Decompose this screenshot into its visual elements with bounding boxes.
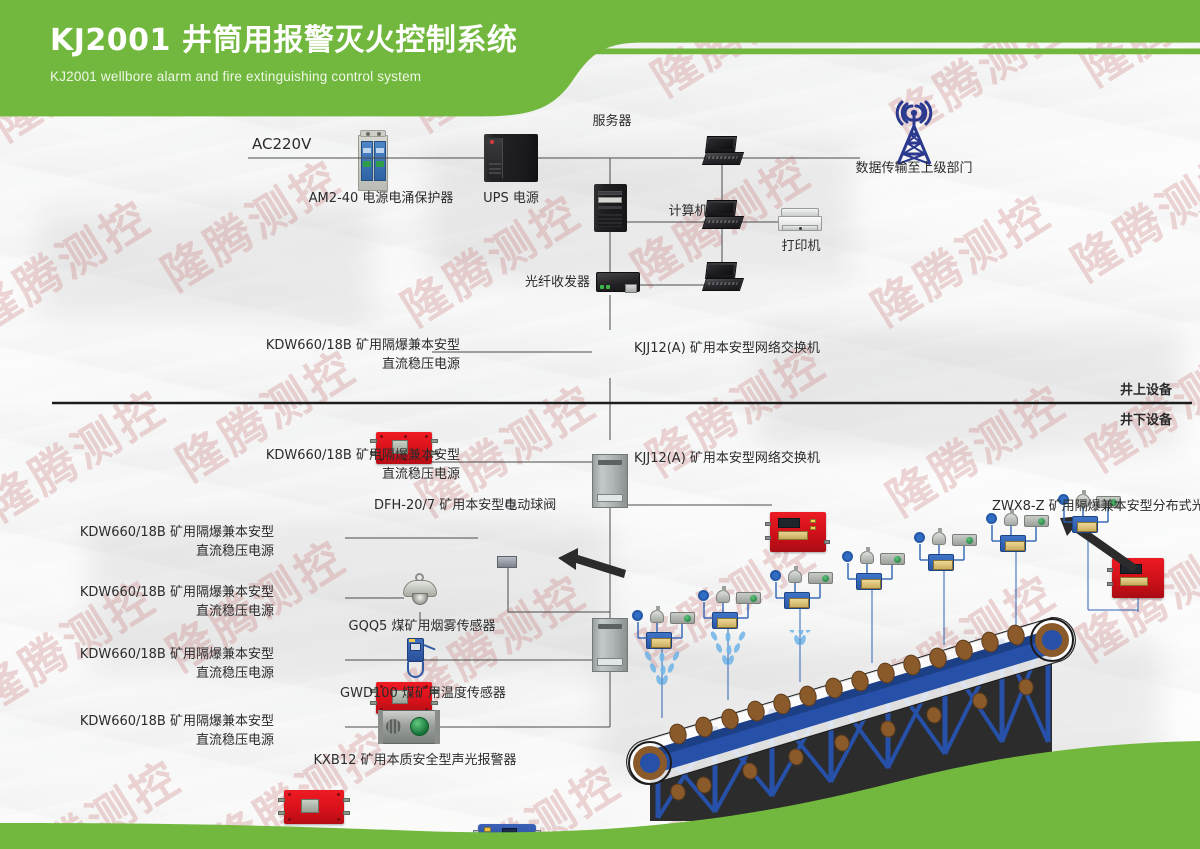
- valve-actuator-base: [497, 556, 517, 568]
- temp-sensor-display: [410, 643, 421, 651]
- network-switch-kjj12-surface[interactable]: [592, 454, 628, 508]
- label-psu-row3-line2: 直流稳压电源: [78, 603, 274, 622]
- label-audible-visual-alarm: KXB12 矿用本质安全型声光报警器: [300, 752, 530, 771]
- arrow-pointer-icon: [558, 548, 628, 584]
- dts-host-zwx8z[interactable]: [770, 512, 828, 554]
- monitor-icon: [705, 262, 737, 279]
- ups-vent: [489, 172, 501, 174]
- alarm-bracket: [435, 710, 440, 744]
- label-psu-row2-line1: KDW660/18B 矿用隔爆兼本安型: [78, 524, 274, 543]
- cluster-wiring: [630, 604, 700, 646]
- switch-front-panel: [597, 494, 623, 502]
- valve-nameplate: [487, 838, 523, 849]
- alarm-indicator-lamp: [410, 717, 429, 736]
- label-dts-host: ZWX8-Z 矿用隔爆兼本安型分布式光纤测温装置主机: [992, 498, 1200, 517]
- keyboard-icon: [702, 278, 744, 291]
- converter-led: [606, 285, 610, 289]
- psu-kdw660-row2[interactable]: [284, 790, 344, 824]
- alarm-bracket: [378, 710, 383, 744]
- ma-certification-mark: [409, 639, 415, 642]
- printer-power-button[interactable]: [799, 227, 802, 230]
- label-psu-row5-line2: 直流稳压电源: [62, 732, 274, 751]
- server-bay: [598, 206, 622, 209]
- workstation-pc[interactable]: [704, 262, 744, 292]
- dts-host-button[interactable]: [810, 519, 816, 523]
- label-ball-valve: DFH-20/7 矿用本安型电动球阀: [374, 497, 556, 516]
- label-psu-surface-line2: 直流稳压电源: [170, 356, 460, 375]
- page-title: KJ2001 井筒用报警灭火控制系统: [50, 22, 517, 60]
- label-switch-underground: KJJ12(A) 矿用本安型网络交换机: [634, 450, 820, 469]
- server-tower[interactable]: [594, 184, 627, 232]
- ups-vent: [489, 163, 501, 165]
- title-block: KJ2001 井筒用报警灭火控制系统 KJ2001 wellbore alarm…: [50, 22, 517, 84]
- audible-visual-alarm-kxb12[interactable]: [378, 710, 440, 744]
- label-server: 服务器: [572, 113, 652, 132]
- dts-cable-gland: [824, 540, 830, 544]
- dts-host-button[interactable]: [810, 526, 816, 530]
- label-ups: UPS 电源: [466, 190, 556, 209]
- label-surface-equipment: 井上设备: [1120, 382, 1172, 401]
- dts-cable-gland: [765, 522, 771, 526]
- label-smoke-sensor: GQQ5 煤矿用烟雾传感器: [340, 618, 504, 637]
- monitor-icon: [705, 136, 737, 153]
- poster-canvas: 隆腾测控 隆腾测控 隆腾测控 隆腾测控 隆腾测控 隆腾测控 隆腾测控 隆腾测控 …: [0, 0, 1200, 849]
- label-surge-protector: AM2-40 电源电涌保护器: [306, 190, 456, 209]
- converter-led: [600, 285, 604, 289]
- electric-ball-valve-dfh207[interactable]: [478, 824, 536, 849]
- page-subtitle: KJ2001 wellbore alarm and fire extinguis…: [50, 69, 517, 84]
- label-psu-row4-line2: 直流稳压电源: [78, 665, 274, 684]
- printer-device[interactable]: [778, 208, 824, 234]
- server-bay: [598, 191, 622, 195]
- antenna-tower-icon: [882, 98, 946, 166]
- label-underground-equipment: 井下设备: [1120, 412, 1172, 431]
- valve-display: [502, 828, 517, 833]
- keyboard-icon: [702, 152, 744, 165]
- psu-cable-gland: [370, 439, 377, 443]
- ups-power-unit[interactable]: [484, 134, 538, 182]
- smoke-sensor-gqq5[interactable]: [403, 573, 439, 609]
- label-media-converter: 光纤收发器: [440, 274, 590, 293]
- alarm-speaker-grille: [386, 719, 401, 734]
- label-ac220v: AC220V: [252, 134, 311, 156]
- label-psu-row3-line1: KDW660/18B 矿用隔爆兼本安型: [78, 584, 274, 603]
- label-psu-row2-line2: 直流稳压电源: [78, 543, 274, 562]
- temp-sensor-cable: [424, 644, 436, 650]
- label-psu-row1-line1: KDW660/18B 矿用隔爆兼本安型: [170, 447, 460, 466]
- dts-cable-gland: [765, 536, 771, 540]
- temp-sensor-probe: [407, 662, 424, 678]
- label-uplink-transmission: 数据传输至上级部门: [836, 160, 992, 179]
- dts-host-display: [778, 518, 800, 528]
- temperature-sensor-gwd100[interactable]: [398, 638, 438, 680]
- rj45-port: [625, 284, 637, 293]
- server-optical-drive: [598, 197, 622, 203]
- label-switch-surface: KJJ12(A) 矿用本安型网络交换机: [634, 340, 820, 359]
- label-computer: 计算机: [648, 203, 728, 222]
- label-psu-row4-line1: KDW660/18B 矿用隔爆兼本安型: [78, 646, 274, 665]
- label-psu-row1-line2: 直流稳压电源: [170, 466, 460, 485]
- switch-port-strip: [598, 460, 623, 465]
- fiber-media-converter[interactable]: [596, 272, 642, 296]
- psu-cable-gland: [431, 439, 438, 443]
- server-vent-grill: [598, 214, 622, 227]
- label-temperature-sensor: GWD100 煤矿用温度传感器: [330, 685, 516, 704]
- workstation-pc[interactable]: [704, 136, 744, 166]
- water-spray-pattern: [620, 630, 1180, 820]
- ma-certification-mark: [484, 827, 492, 832]
- label-psu-surface-line1: KDW660/18B 矿用隔爆兼本安型: [170, 337, 460, 356]
- dts-host-nameplate: [778, 531, 808, 540]
- label-psu-row5-line1: KDW660/18B 矿用隔爆兼本安型: [62, 713, 274, 732]
- ups-vent: [489, 168, 501, 170]
- dts-field-nameplate: [1120, 577, 1148, 586]
- smoke-sensor-lens: [412, 593, 428, 605]
- label-printer: 打印机: [766, 238, 836, 257]
